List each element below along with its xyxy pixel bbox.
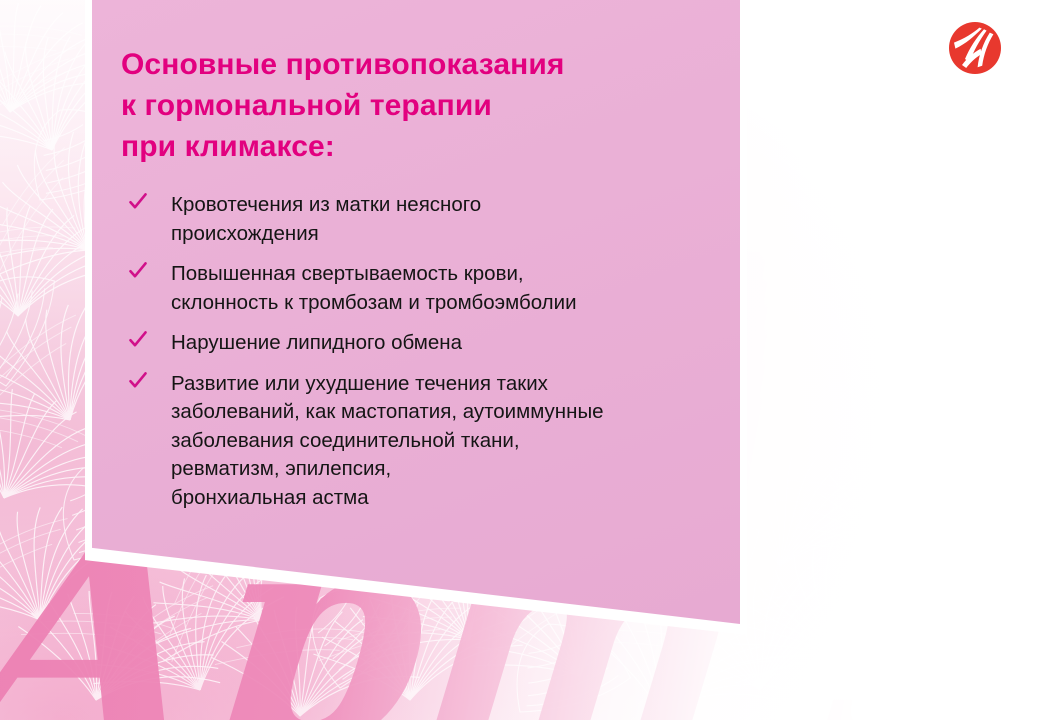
title-line-2: к гормональной терапии — [121, 85, 721, 126]
panel-content: Основные противопоказания к гормональной… — [92, 0, 740, 634]
list-item: Кровотечения из матки неясного происхожд… — [121, 191, 731, 248]
check-icon — [128, 330, 148, 352]
list-item-label: Развитие или ухудшение течения таких заб… — [171, 370, 731, 513]
list-item-label: Нарушение липидного обмена — [171, 329, 731, 358]
page-title: Основные противопоказания к гормональной… — [121, 44, 721, 167]
title-line-3: при климаксе: — [121, 126, 721, 167]
list-item: Нарушение липидного обмена — [121, 329, 731, 358]
contraindications-list: Кровотечения из матки неясного происхожд… — [121, 191, 731, 512]
slide: Арт Лайф Основные противопоказания к гор… — [0, 0, 1040, 720]
check-icon — [128, 261, 148, 283]
list-item-label: Кровотечения из матки неясного происхожд… — [171, 191, 731, 248]
check-icon — [128, 371, 148, 393]
list-item: Развитие или ухудшение течения таких заб… — [121, 370, 731, 513]
list-item-label: Повышенная свертываемость крови, склонно… — [171, 260, 731, 317]
check-icon — [128, 192, 148, 214]
list-item: Повышенная свертываемость крови, склонно… — [121, 260, 731, 317]
art-life-logo — [948, 21, 1002, 75]
title-line-1: Основные противопоказания — [121, 44, 721, 85]
